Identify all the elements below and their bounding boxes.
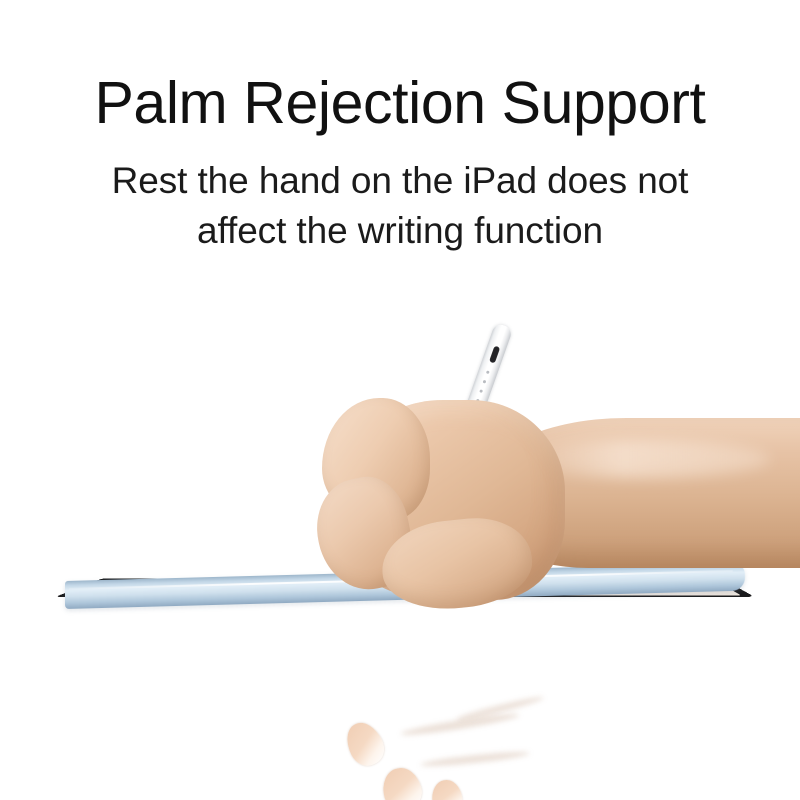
text-block: Palm Rejection Support Rest the hand on … [0,0,800,257]
hand-and-arm [0,250,800,800]
product-banner: Palm Rejection Support Rest the hand on … [0,0,800,800]
page-title: Palm Rejection Support [0,74,800,133]
product-photo [0,250,800,800]
subtitle: Rest the hand on the iPad does not affec… [0,156,800,257]
subtitle-line-1: Rest the hand on the iPad does not [0,156,800,206]
